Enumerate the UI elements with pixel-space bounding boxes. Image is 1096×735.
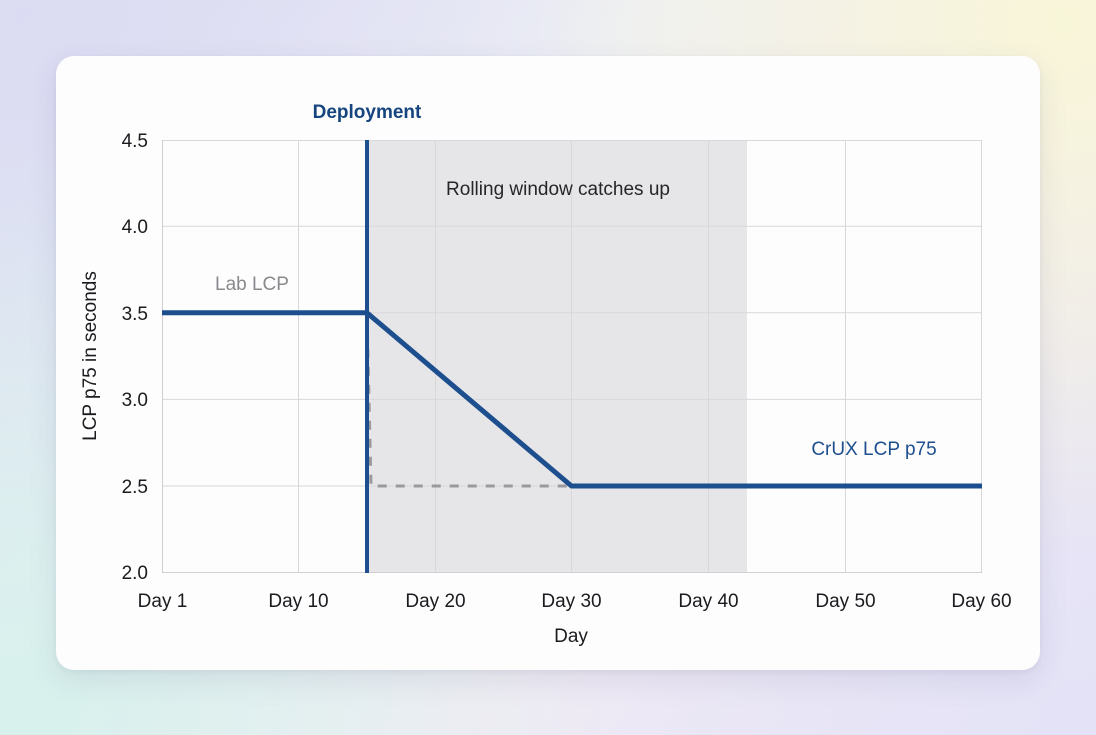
x-axis-title: Day: [554, 626, 588, 647]
page-backdrop: 2.0 2.5 3.0 3.5 4.0 4.5 Day 1 Day 10 Day…: [0, 0, 1096, 735]
y-tick-labels: 2.0 2.5 3.0 3.5 4.0 4.5: [122, 131, 148, 584]
chart-card: 2.0 2.5 3.0 3.5 4.0 4.5 Day 1 Day 10 Day…: [56, 56, 1040, 670]
y-tick-label: 2.5: [122, 477, 148, 498]
x-tick-label: Day 40: [678, 591, 738, 612]
deployment-title: Deployment: [313, 102, 422, 123]
y-axis-title: LCP p75 in seconds: [80, 271, 101, 441]
x-tick-label: Day 50: [815, 591, 875, 612]
x-tick-label: Day 60: [951, 591, 1011, 612]
x-tick-label: Day 30: [541, 591, 601, 612]
series-label-crux-lcp-p75: CrUX LCP p75: [811, 439, 936, 460]
y-tick-label: 3.5: [122, 304, 148, 325]
y-tick-label: 4.0: [122, 217, 148, 238]
y-tick-label: 2.0: [122, 563, 148, 584]
x-tick-label: Day 1: [138, 591, 188, 612]
x-tick-label: Day 20: [405, 591, 465, 612]
x-tick-label: Day 10: [268, 591, 328, 612]
x-tick-labels: Day 1 Day 10 Day 20 Day 30 Day 40 Day 50…: [138, 591, 1012, 612]
rolling-window-annotation: Rolling window catches up: [446, 179, 670, 200]
series-label-lab-lcp: Lab LCP: [215, 274, 289, 295]
y-tick-label: 4.5: [122, 131, 148, 152]
line-chart: 2.0 2.5 3.0 3.5 4.0 4.5 Day 1 Day 10 Day…: [56, 56, 1040, 670]
x-gridlines: [163, 140, 982, 573]
rolling-window-band: [367, 140, 747, 573]
y-tick-label: 3.0: [122, 390, 148, 411]
